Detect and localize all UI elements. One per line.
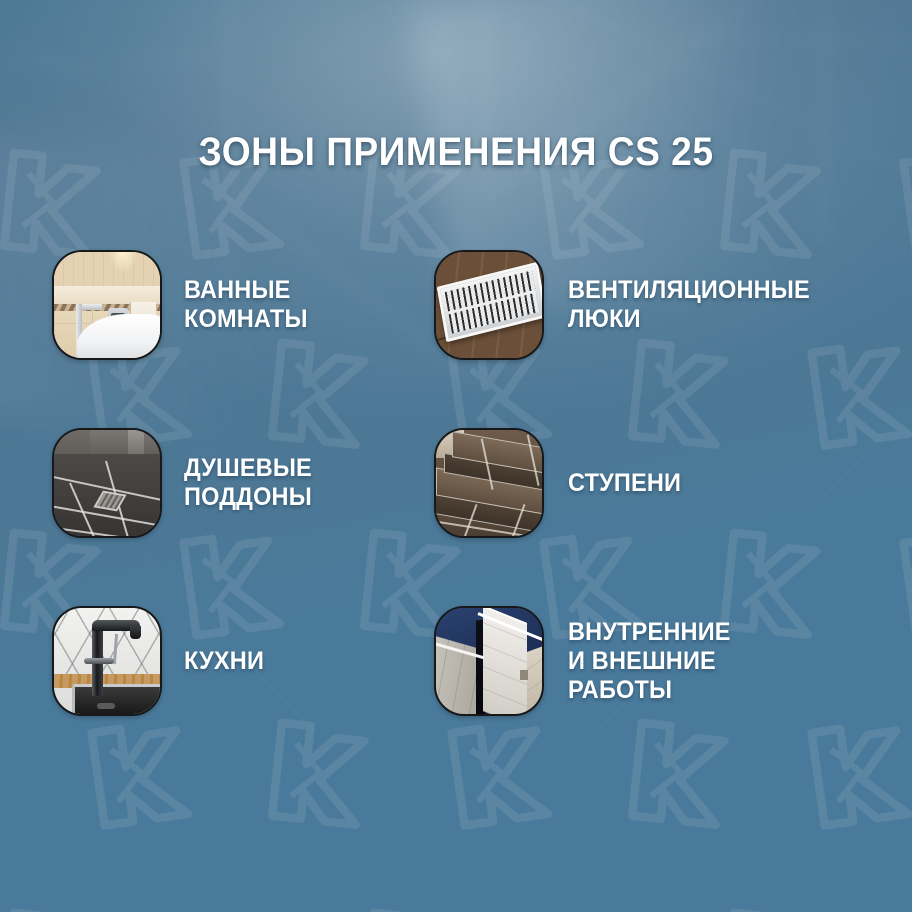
- ventilation-grille-photo-icon: [434, 250, 544, 360]
- zone-label-line: КОМНАТЫ: [184, 305, 308, 334]
- zone-item-shower-trays[interactable]: ДУШЕВЫЕ ПОДДОНЫ: [52, 428, 412, 538]
- kitchen-sink-photo-icon: [52, 606, 162, 716]
- bathroom-photo-icon: [52, 250, 162, 360]
- zone-label-interior-exterior-works: ВНУТРЕННИЕ И ВНЕШНИЕ РАБОТЫ: [568, 618, 731, 705]
- zone-label-line: И ВНЕШНИЕ: [568, 647, 731, 676]
- zone-item-kitchens[interactable]: КУХНИ: [52, 606, 412, 716]
- zone-item-bathrooms[interactable]: ВАННЫЕ КОМНАТЫ: [52, 250, 412, 360]
- zone-row: ВАННЫЕ КОМНАТЫ ВЕНТИЛЯЦИОННЫЕ ЛЮКИ: [0, 250, 912, 428]
- zone-label-bathrooms: ВАННЫЕ КОМНАТЫ: [184, 276, 308, 334]
- zone-label-steps: СТУПЕНИ: [568, 469, 681, 498]
- zone-label-line: ЛЮКИ: [568, 305, 810, 334]
- zone-item-steps[interactable]: СТУПЕНИ: [434, 428, 904, 538]
- zone-item-interior-exterior-works[interactable]: ВНУТРЕННИЕ И ВНЕШНИЕ РАБОТЫ: [434, 606, 904, 716]
- zone-label-shower-trays: ДУШЕВЫЕ ПОДДОНЫ: [184, 454, 312, 512]
- tiled-stairs-photo-icon: [434, 428, 544, 538]
- zone-label-line: ВАННЫЕ: [184, 276, 308, 305]
- application-zones-grid: ВАННЫЕ КОМНАТЫ ВЕНТИЛЯЦИОННЫЕ ЛЮКИ: [0, 250, 912, 784]
- zone-label-kitchens: КУХНИ: [184, 647, 264, 676]
- zone-item-ventilation-hatches[interactable]: ВЕНТИЛЯЦИОННЫЕ ЛЮКИ: [434, 250, 904, 360]
- shower-tray-photo-icon: [52, 428, 162, 538]
- zone-label-line: ВЕНТИЛЯЦИОННЫЕ: [568, 276, 810, 305]
- zone-label-line: КУХНИ: [184, 647, 264, 676]
- facade-panels-photo-icon: [434, 606, 544, 716]
- zone-label-line: СТУПЕНИ: [568, 469, 681, 498]
- zone-label-line: ДУШЕВЫЕ: [184, 454, 312, 483]
- zone-label-line: РАБОТЫ: [568, 676, 731, 705]
- zone-row: ДУШЕВЫЕ ПОДДОНЫ: [0, 428, 912, 606]
- zone-label-line: ВНУТРЕННИЕ: [568, 618, 731, 647]
- content-sheet: ЗОНЫ ПРИМЕНЕНИЯ CS 25 ВАННЫЕ КОМНАТЫ: [0, 0, 912, 912]
- page-title: ЗОНЫ ПРИМЕНЕНИЯ CS 25: [32, 130, 880, 175]
- zone-label-line: ПОДДОНЫ: [184, 483, 312, 512]
- zone-label-ventilation-hatches: ВЕНТИЛЯЦИОННЫЕ ЛЮКИ: [568, 276, 810, 334]
- zone-row: КУХНИ ВНУТРЕН: [0, 606, 912, 784]
